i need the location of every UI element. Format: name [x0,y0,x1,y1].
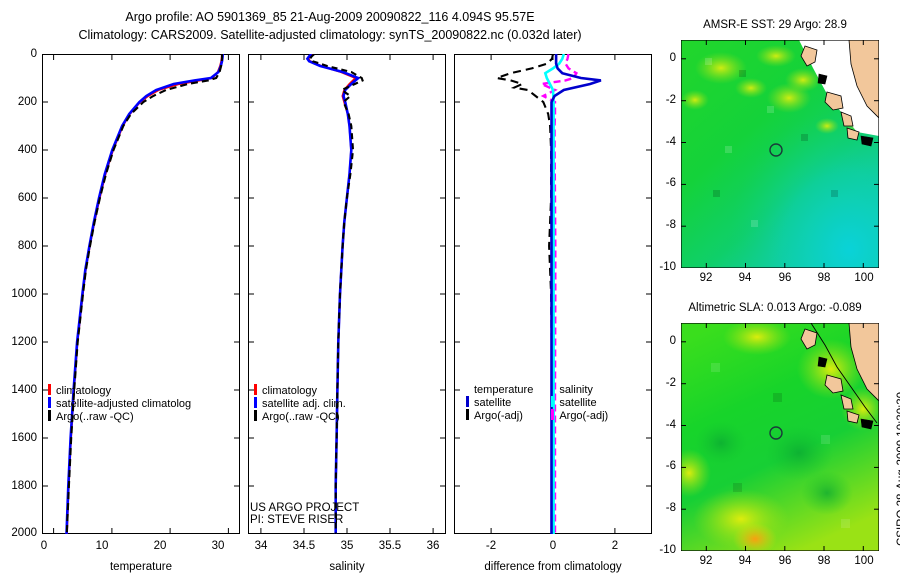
legend-swatch-satellite-salinity [551,396,554,407]
map-sst-canvas [681,40,879,268]
map-sla-x-tick: 96 [771,555,799,567]
legend-salinity: climatology satellite adj. clim. Argo(..… [254,384,446,423]
map-sla-y-tick: -6 [648,460,676,472]
legend-item: Argo(..raw -QC) [48,410,240,423]
panel-temperature-plot [42,54,240,534]
y-tick-label: 800 [0,240,37,252]
legend-item: climatology [48,384,240,397]
legend-label: climatology [262,385,317,397]
map-sst-x-tick: 92 [692,272,720,284]
map-sla-y-tick: 0 [648,335,676,347]
x-tick-label: 34.5 [287,540,321,552]
map-sla-title: Altimetric SLA: 0.013 Argo: -0.089 [660,302,890,314]
y-tick-label: 1600 [0,432,37,444]
legend-item: satellite [551,396,608,409]
map-sst-x-tick: 100 [848,272,880,284]
legend-swatch-climatology [48,384,51,395]
legend-temperature: climatology satellite-adjusted climatolo… [48,384,240,423]
x-tick-label: 2 [602,540,628,552]
legend-swatch-argo-raw [48,410,51,421]
y-tick-label: 200 [0,96,37,108]
x-tick-label: -2 [478,540,504,552]
panel-temperature: climatology satellite-adjusted climatolo… [42,54,240,534]
footer-project: US ARGO PROJECT [250,502,359,514]
panel-difference: temperature satellite Argo(-adj) salinit… [454,54,652,534]
legend-item: Argo(-adj) [551,409,608,422]
legend-swatch-satellite-adjusted [254,397,257,408]
legend-label: climatology [56,385,111,397]
legend-item: satellite [466,396,533,409]
legend-swatch-satellite-adjusted [48,397,51,408]
y-tick-label: 0 [0,48,37,60]
x-tick-label: 34 [248,540,274,552]
x-axis-label-difference: difference from climatology [454,561,652,573]
map-sla-canvas [681,323,879,551]
y-tick-label: 1400 [0,384,37,396]
legend-header-salinity: salinity [551,384,608,396]
legend-swatch-argo-raw [254,410,257,421]
map-sst-y-tick: -2 [648,94,676,106]
x-axis-label-salinity: salinity [248,561,446,573]
legend-item: Argo(-adj) [466,409,533,422]
x-tick-label: 20 [149,540,171,552]
map-sla-x-tick: 94 [731,555,759,567]
x-axis-label-temperature: temperature [42,561,240,573]
map-sla-y-tick: -4 [648,419,676,431]
panel-salinity-plot [248,54,446,534]
map-sla-y-tick: -8 [648,502,676,514]
map-sst-y-tick: -4 [648,136,676,148]
legend-label: Argo(..raw -QC) [262,411,340,423]
map-sla-y-tick: -2 [648,377,676,389]
x-tick-label: 35 [334,540,360,552]
legend-item: satellite-adjusted climatolog [48,397,240,410]
legend-swatch-argo-adj-temperature [466,409,469,420]
legend-label: Argo(-adj) [559,410,608,422]
map-sst [681,40,879,268]
x-tick-label: 0 [540,540,566,552]
figure-title-line2: Climatology: CARS2009. Satellite-adjuste… [0,28,660,42]
legend-column-temperature: temperature satellite Argo(-adj) [466,384,533,422]
legend-label: satellite [559,397,596,409]
legend-header-temperature: temperature [466,384,533,396]
legend-label: satellite [474,397,511,409]
legend-label: satellite adj. clim. [262,398,346,410]
y-tick-label: 1200 [0,336,37,348]
legend-item: satellite adj. clim. [254,397,446,410]
map-sla-x-tick: 98 [810,555,838,567]
map-sla [681,323,879,551]
panel-difference-plot [454,54,652,534]
x-tick-label: 35.5 [373,540,407,552]
legend-item: Argo(..raw -QC) [254,410,446,423]
y-tick-label: 400 [0,144,37,156]
map-sla-y-tick: -10 [644,544,676,556]
x-tick-label: 30 [207,540,229,552]
map-sst-x-tick: 94 [731,272,759,284]
legend-label: Argo(..raw -QC) [56,411,134,423]
legend-swatch-argo-adj-salinity [551,409,554,420]
y-tick-label: 600 [0,192,37,204]
map-sst-y-tick: 0 [648,52,676,64]
map-sst-y-tick: -6 [648,177,676,189]
y-tick-label: 1800 [0,480,37,492]
legend-label: Argo(-adj) [474,410,523,422]
map-sst-x-tick: 96 [771,272,799,284]
map-sla-x-tick: 100 [848,555,880,567]
footer-pi: PI: STEVE RISER [250,514,359,526]
y-tick-label: 2000 [0,527,37,539]
legend-swatch-satellite-temperature [466,396,469,407]
x-tick-label: 10 [91,540,113,552]
legend-difference: temperature satellite Argo(-adj) salinit… [466,384,652,422]
x-tick-label: 36 [420,540,446,552]
legend-column-salinity: salinity satellite Argo(-adj) [551,384,608,422]
legend-swatch-climatology [254,384,257,395]
map-sst-x-tick: 98 [810,272,838,284]
legend-label: satellite-adjusted climatolog [56,398,191,410]
y-tick-label: 1000 [0,288,37,300]
map-sla-x-tick: 92 [692,555,720,567]
x-tick-label: 0 [33,540,55,552]
footer-project-block: US ARGO PROJECT PI: STEVE RISER [250,502,359,526]
panel-salinity: climatology satellite adj. clim. Argo(..… [248,54,446,534]
map-sst-y-tick: -8 [648,219,676,231]
map-sst-y-tick: -10 [644,261,676,273]
map-sst-title: AMSR-E SST: 29 Argo: 28.9 [660,19,890,31]
legend-item: climatology [254,384,446,397]
figure-title-line1: Argo profile: AO 5901369_85 21-Aug-2009 … [0,10,660,24]
